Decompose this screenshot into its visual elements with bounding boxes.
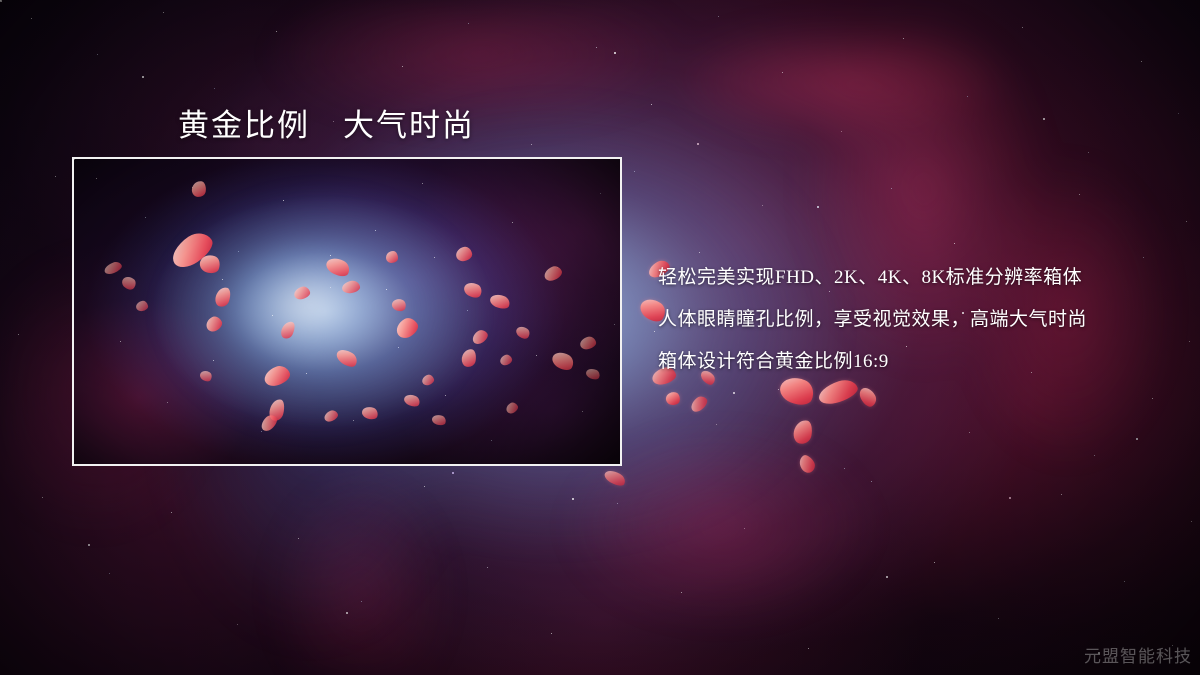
star-layer-small-b (0, 0, 1, 1)
body-line-2: 人体眼睛瞳孔比例，享受视觉效果，高端大气时尚 (658, 299, 1178, 341)
petal (213, 285, 232, 308)
petal (204, 314, 225, 334)
petal (688, 394, 710, 415)
petal (166, 227, 217, 273)
petal (488, 292, 511, 311)
body-line-1: 轻松完美实现FHD、2K、4K、8K标准分辨率箱体 (658, 257, 1178, 299)
photo-starfield (74, 159, 620, 464)
petal (334, 346, 360, 370)
page-title: 黄金比例 大气时尚 (178, 100, 475, 145)
petal (120, 274, 138, 292)
petal (542, 264, 564, 283)
petal (602, 468, 627, 489)
star-layer-bright (0, 0, 2, 2)
star-layer-small-a (0, 0, 1, 1)
photo-star-layer (74, 159, 75, 160)
petal (504, 401, 519, 416)
petal (341, 280, 360, 294)
petal (455, 245, 474, 262)
petal (393, 315, 421, 342)
petal (470, 328, 490, 347)
petal (198, 369, 213, 384)
petal (386, 251, 398, 263)
petal (198, 252, 223, 276)
petal (361, 405, 380, 421)
petal (268, 398, 287, 423)
presentation-slide: 黄金比例 大气时尚 轻松完美实现FHD、2K、4K、8K标准分辨率箱体 人体眼睛… (0, 0, 1200, 675)
petal (324, 255, 353, 280)
petal (579, 335, 597, 351)
petal (549, 349, 576, 374)
petal (258, 412, 279, 433)
petal (191, 180, 207, 198)
petal (279, 319, 297, 340)
petal (499, 353, 514, 367)
petal (792, 418, 815, 445)
petal (135, 300, 149, 312)
petal (323, 409, 340, 424)
petal (665, 391, 681, 406)
petal (585, 367, 602, 382)
petal (514, 324, 532, 341)
petal (796, 453, 817, 476)
watermark: 元盟智能科技 (1084, 642, 1192, 667)
petal (421, 373, 436, 386)
petal (857, 385, 879, 409)
petal (262, 363, 293, 389)
petal (390, 297, 407, 313)
petal (461, 348, 478, 368)
body-line-3: 箱体设计符合黄金比例16:9 (658, 341, 1178, 383)
body-text-block: 轻松完美实现FHD、2K、4K、8K标准分辨率箱体 人体眼睛瞳孔比例，享受视觉效… (658, 257, 1178, 383)
photo-nebula-base (74, 159, 620, 464)
photo-core-glow (74, 159, 620, 464)
petal (403, 392, 422, 408)
petal (103, 260, 123, 276)
petal (462, 280, 484, 301)
framed-photo (72, 157, 622, 466)
petal (431, 413, 447, 426)
photo-petals (74, 159, 620, 464)
petal (293, 285, 312, 301)
photo-vignette (74, 159, 620, 464)
